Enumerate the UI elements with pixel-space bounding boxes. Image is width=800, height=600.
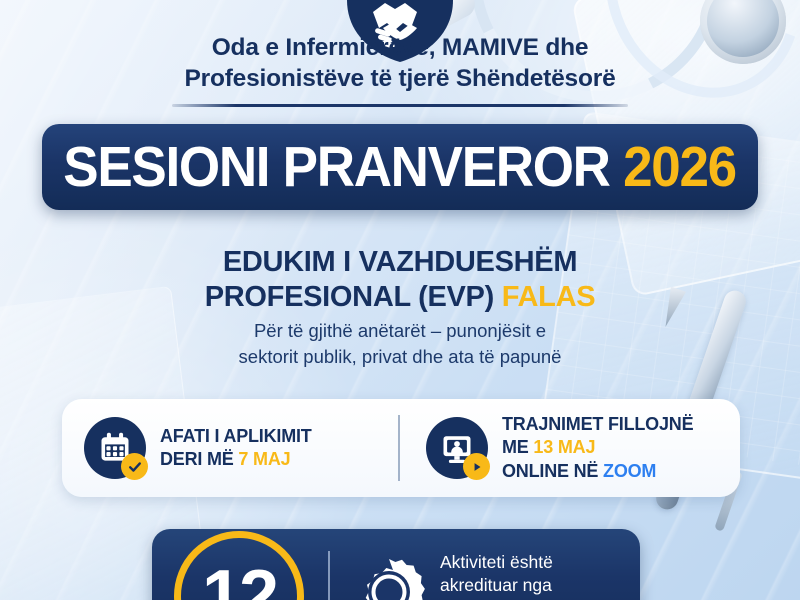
program-audience-line2: sektorit publik, privat dhe ata të papun… bbox=[0, 344, 800, 370]
start-date: 13 MAJ bbox=[533, 437, 595, 457]
session-year: 2026 bbox=[624, 135, 737, 199]
deadline-date: 7 MAJ bbox=[238, 449, 290, 469]
info-card-start-text: TRAJNIMET FILLOJNË ME 13 MAJ ONLINE NË Z… bbox=[502, 413, 693, 483]
start-line2: ME 13 MAJ bbox=[502, 436, 693, 459]
session-banner: SESIONI PRANVEROR 2026 bbox=[42, 124, 758, 210]
play-badge-icon bbox=[463, 453, 490, 480]
accreditation-line1: Aktiviteti është bbox=[440, 551, 640, 574]
organization-name-line1: Oda e Infermierëve, MAMIVE dhe bbox=[0, 33, 800, 64]
program-headline-free-badge: FALAS bbox=[502, 281, 596, 313]
info-card-deadline: AFATI I APLIKIMIT DERI MË 7 MAJ bbox=[62, 399, 398, 497]
accreditation-text: Aktiviteti është akredituar nga KEVP i O… bbox=[440, 551, 640, 600]
program-audience-text: Për të gjithë anëtarët – punonjësit e se… bbox=[0, 318, 800, 370]
check-badge-icon bbox=[121, 453, 148, 480]
program-audience-line1: Për të gjithë anëtarët – punonjësit e bbox=[0, 318, 800, 344]
info-panel-divider bbox=[398, 415, 400, 481]
accreditation-seal-icon bbox=[352, 555, 426, 600]
program-headline-line1: EDUKIM I VAZHDUESHËM bbox=[0, 245, 800, 280]
credits-ring: 12 bbox=[174, 531, 304, 600]
info-card-start: TRAJNIMET FILLOJNË ME 13 MAJ ONLINE NË Z… bbox=[400, 399, 740, 497]
info-panel: AFATI I APLIKIMIT DERI MË 7 MAJ bbox=[62, 399, 740, 497]
header-divider-rule bbox=[172, 104, 628, 107]
start-line3-main: ONLINE NË bbox=[502, 461, 598, 481]
start-platform: ZOOM bbox=[603, 461, 656, 481]
poster-canvas: Oda e Infermierëve, MAMIVE dhe Profesion… bbox=[0, 0, 800, 600]
program-headline-line2: PROFESIONAL (EVP) FALAS bbox=[0, 280, 800, 315]
webinar-monitor-play-icon bbox=[426, 417, 488, 479]
deadline-line1: AFATI I APLIKIMIT bbox=[160, 425, 312, 448]
info-card-deadline-text: AFATI I APLIKIMIT DERI MË 7 MAJ bbox=[160, 425, 312, 472]
start-line3: ONLINE NË ZOOM bbox=[502, 460, 693, 483]
session-banner-text: SESIONI PRANVEROR 2026 bbox=[64, 139, 737, 196]
calendar-check-icon bbox=[84, 417, 146, 479]
program-headline: EDUKIM I VAZHDUESHËM PROFESIONAL (EVP) F… bbox=[0, 245, 800, 316]
organization-name: Oda e Infermierëve, MAMIVE dhe Profesion… bbox=[0, 33, 800, 95]
organization-name-line2: Profesionistëve të tjerë Shëndetësorë bbox=[0, 64, 800, 95]
accreditation-line2: akredituar nga bbox=[440, 574, 640, 597]
credits-number: 12 bbox=[202, 560, 276, 600]
session-title: SESIONI PRANVEROR bbox=[64, 135, 610, 199]
program-headline-line2-main: PROFESIONAL (EVP) bbox=[205, 281, 494, 313]
start-line2-main: ME bbox=[502, 437, 529, 457]
deadline-line2: DERI MË 7 MAJ bbox=[160, 448, 312, 471]
accreditation-card: 12 Aktiviteti është akredituar nga bbox=[152, 529, 640, 600]
accreditation-card-divider bbox=[328, 551, 330, 600]
deadline-line2-main: DERI MË bbox=[160, 449, 234, 469]
start-line1: TRAJNIMET FILLOJNË bbox=[502, 413, 693, 436]
